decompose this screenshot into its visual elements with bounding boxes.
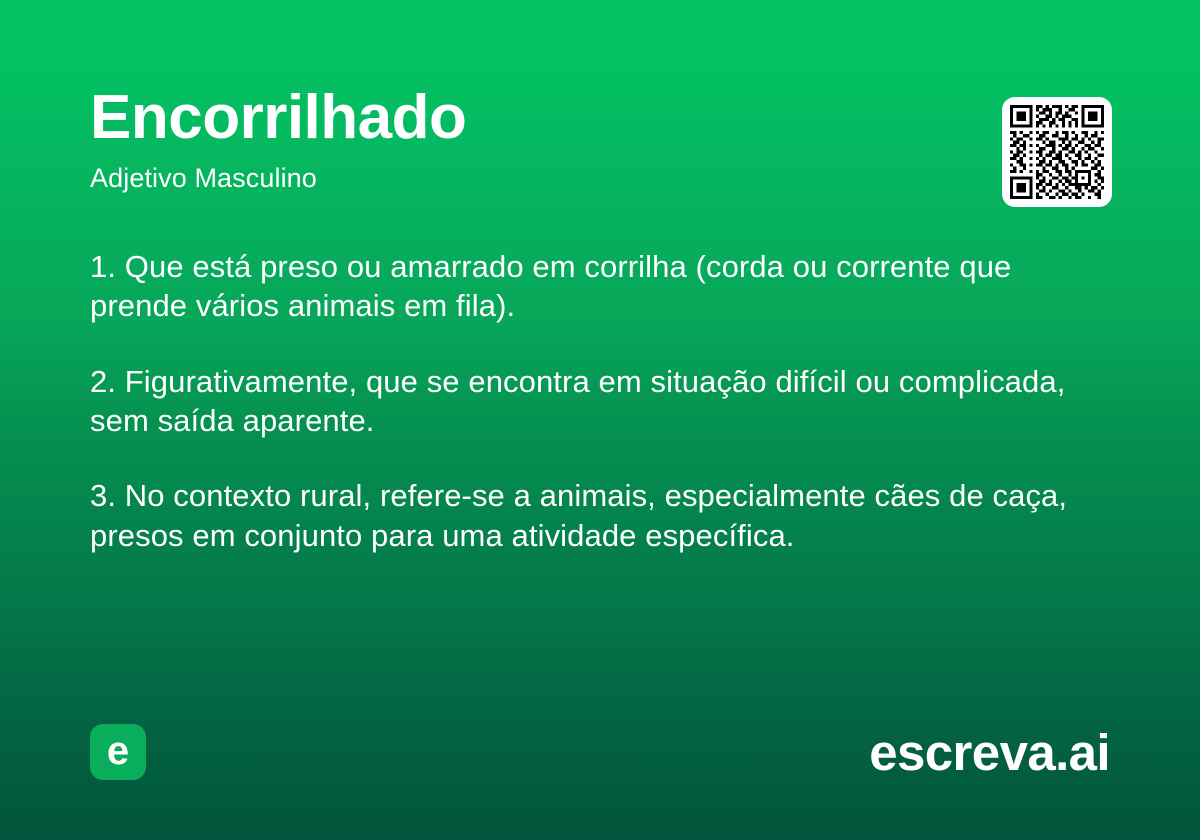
card-header: Encorrilhado Adjetivo Masculino: [90, 86, 1110, 195]
definitions-list: 1. Que está preso ou amarrado em corrilh…: [90, 247, 1110, 555]
brand-logo-icon[interactable]: e: [90, 724, 146, 780]
qr-code-icon: [1010, 105, 1104, 199]
qr-code-panel[interactable]: [1002, 97, 1112, 207]
page-title: Encorrilhado: [90, 86, 1110, 149]
definition-item: 2. Figurativamente, que se encontra em s…: [90, 362, 1110, 441]
brand-logo-letter: e: [107, 731, 129, 771]
card-footer: e escreva.ai: [90, 724, 1110, 780]
word-class-label: Adjetivo Masculino: [90, 162, 1110, 194]
definition-item: 1. Que está preso ou amarrado em corrilh…: [90, 247, 1110, 326]
word-definition-card: Encorrilhado Adjetivo Masculino: [0, 0, 1200, 840]
definition-item: 3. No contexto rural, refere-se a animai…: [90, 476, 1110, 555]
brand-name: escreva.ai: [869, 727, 1110, 778]
